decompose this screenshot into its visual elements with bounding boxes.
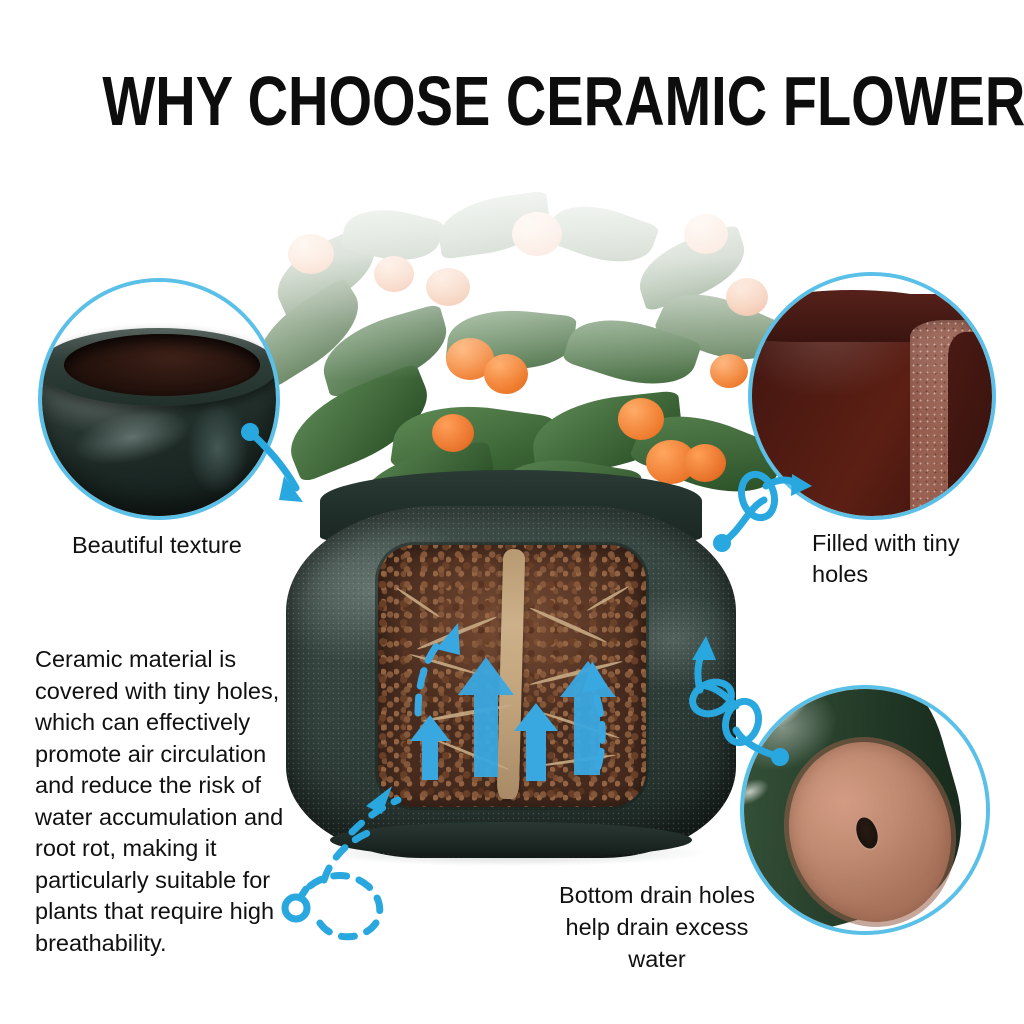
label-line: Bottom drain holes	[538, 879, 776, 911]
label-line: water	[538, 943, 776, 975]
texture-closeup-image	[42, 282, 276, 516]
pot-opening	[64, 334, 260, 396]
glaze-outer-lip	[948, 332, 996, 520]
label-bottom-drain-holes: Bottom drain holes help drain excess wat…	[538, 879, 776, 975]
label-filled-with-tiny-holes: Filled with tiny holes	[812, 528, 1012, 590]
glaze-highlight	[188, 402, 248, 494]
label-line: holes	[812, 559, 1012, 590]
callout-circle-texture[interactable]	[38, 278, 280, 520]
pot-bottom-image	[744, 689, 986, 931]
callout-circle-holes[interactable]	[748, 272, 996, 520]
label-beautiful-texture: Beautiful texture	[72, 530, 332, 561]
soil-cutaway-window	[378, 545, 646, 807]
wall-crosssection-image	[752, 276, 992, 516]
page-title: WHY CHOOSE CERAMIC FLOWERPOTS	[102, 66, 921, 136]
label-line: help drain excess	[538, 911, 776, 943]
callout-circle-drain[interactable]	[740, 685, 990, 935]
upward-airflow-arrows-icon	[378, 545, 646, 807]
label-line: Filled with tiny	[812, 528, 1012, 559]
infographic-canvas: WHY CHOOSE CERAMIC FLOWERPOTS	[0, 0, 1024, 1024]
breathability-paragraph: Ceramic material is covered with tiny ho…	[35, 644, 303, 959]
pot-foot	[330, 822, 692, 858]
